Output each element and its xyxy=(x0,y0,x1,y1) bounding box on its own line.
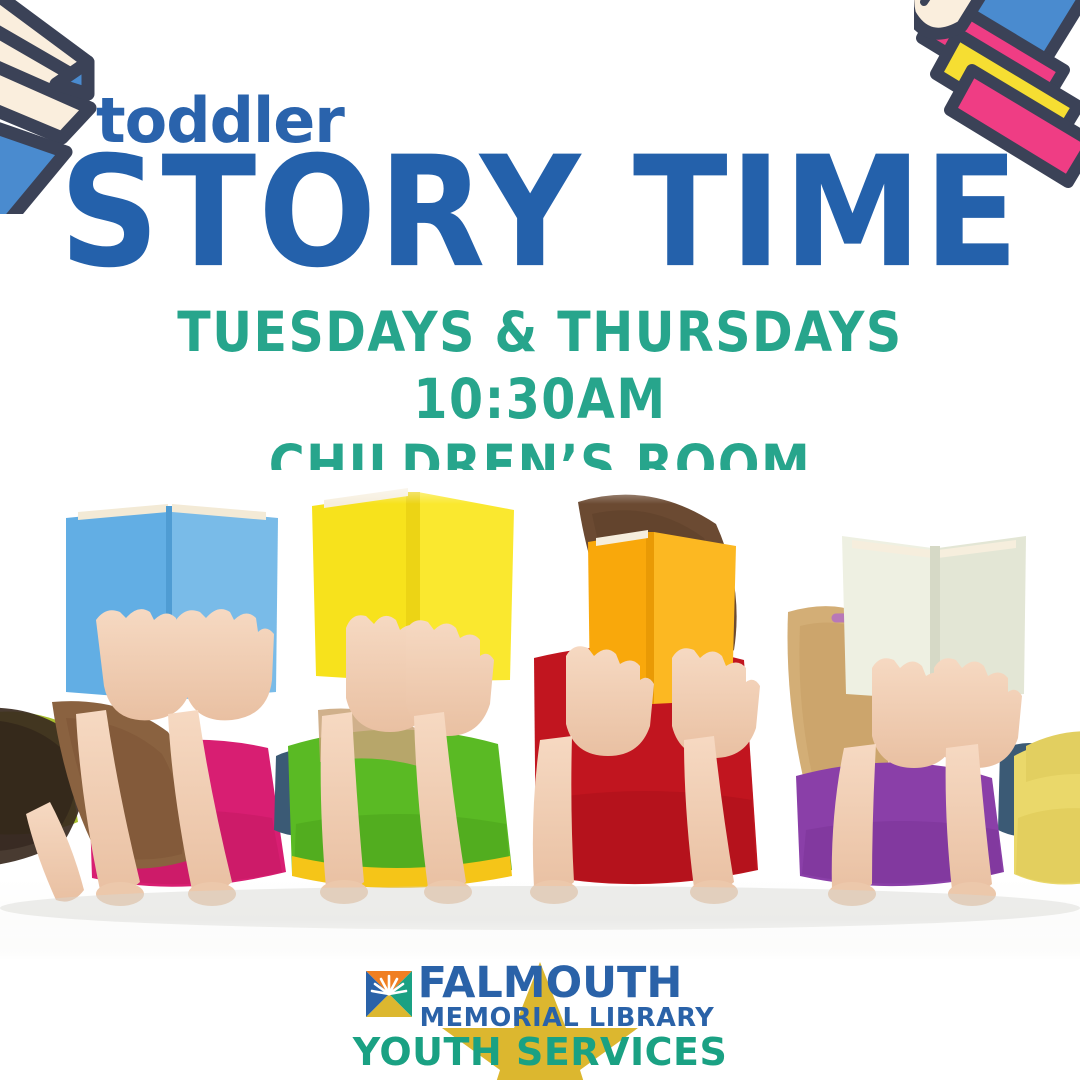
headline-block: toddler STORY TIME xyxy=(0,92,1080,271)
kid-partial-right xyxy=(1014,731,1080,884)
logo-text-column: FALMOUTH MEMORIAL LIBRARY xyxy=(418,962,715,1032)
logo-secondary-text: MEMORIAL LIBRARY xyxy=(420,1006,715,1032)
logo-lockup: FALMOUTH MEMORIAL LIBRARY YOUTH SERVICES xyxy=(0,962,1080,1075)
detail-days: TUESDAYS & THURSDAYS xyxy=(0,296,1080,371)
logo-row: FALMOUTH MEMORIAL LIBRARY xyxy=(366,962,715,1032)
detail-time: 10:30AM xyxy=(0,363,1080,438)
logo-primary-text: FALMOUTH xyxy=(418,962,715,1005)
page-title: STORY TIME xyxy=(0,143,1080,284)
logo-tertiary-text: YOUTH SERVICES xyxy=(353,1030,728,1074)
event-details: TUESDAYS & THURSDAYS 10:30AM CHILDREN’S … xyxy=(0,296,1080,496)
falmouth-library-mark-icon xyxy=(366,971,412,1022)
poster-canvas: toddler STORY TIME TUESDAYS & THURSDAYS … xyxy=(0,0,1080,1080)
children-reading-books-photo xyxy=(0,470,1080,960)
